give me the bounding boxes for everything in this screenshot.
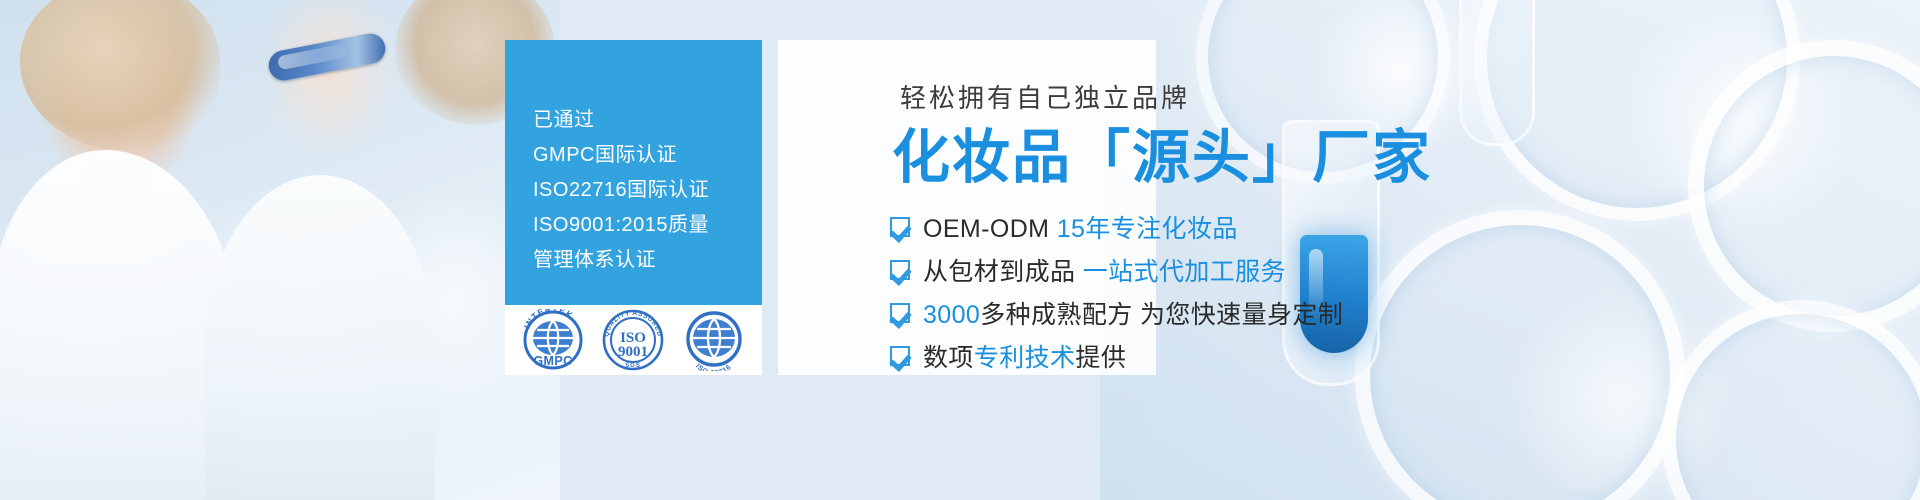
certification-line: 已通过 [533,103,762,138]
feature-text: 数项专利技术提供 [923,338,1126,374]
iso-9001-logo: QUALITY ASSURED FIRM ISO 9001 SGS [600,309,666,371]
promotional-banner: 已通过 GMPC国际认证 ISO22716国际认证 ISO9001:2015质量… [0,0,1920,500]
list-item: 数项专利技术提供 [890,334,1790,377]
certification-line: GMPC国际认证 [533,138,762,173]
feature-text: OEM-ODM 15年专注化妆品 [923,209,1238,245]
check-box-icon [890,260,910,280]
gmpc-intertek-logo: INTERTEK GMPC [520,309,586,371]
svg-text:GMPC: GMPC [534,354,573,368]
check-box-icon [890,346,910,366]
svg-text:9001: 9001 [618,344,648,360]
subheadline: 轻松拥有自己独立品牌 [900,78,1190,115]
list-item: 3000多种成熟配方 为您快速量身定制 [890,291,1790,334]
list-item: OEM-ODM 15年专注化妆品 [890,205,1790,248]
certification-list: 已通过 GMPC国际认证 ISO22716国际认证 ISO9001:2015质量… [505,56,762,278]
certification-panel: 已通过 GMPC国际认证 ISO22716国际认证 ISO9001:2015质量… [505,40,762,305]
svg-text:SGS: SGS [626,363,642,369]
feature-list: OEM-ODM 15年专注化妆品 从包材到成品 一站式代加工服务 3000多种成… [890,205,1790,377]
gmpc-intertek-icon: INTERTEK GMPC [520,309,586,371]
iso-22716-icon: ISO 22716 [681,309,747,371]
certification-line: ISO9001:2015质量 [533,208,762,243]
check-box-icon [890,217,910,237]
check-box-icon [890,303,910,323]
main-headline: 化妆品「源头」厂家 [892,128,1432,189]
certification-line: 管理体系认证 [533,243,762,278]
certification-logos-strip: INTERTEK GMPC QUALITY ASSURED FIRM ISO 9… [505,305,762,375]
feature-text: 从包材到成品 一站式代加工服务 [923,252,1286,288]
iso-22716-logo: ISO 22716 [681,309,747,371]
feature-text: 3000多种成熟配方 为您快速量身定制 [923,295,1343,331]
certification-line: ISO22716国际认证 [533,173,762,208]
iso-9001-icon: QUALITY ASSURED FIRM ISO 9001 SGS [600,309,666,371]
list-item: 从包材到成品 一站式代加工服务 [890,248,1790,291]
